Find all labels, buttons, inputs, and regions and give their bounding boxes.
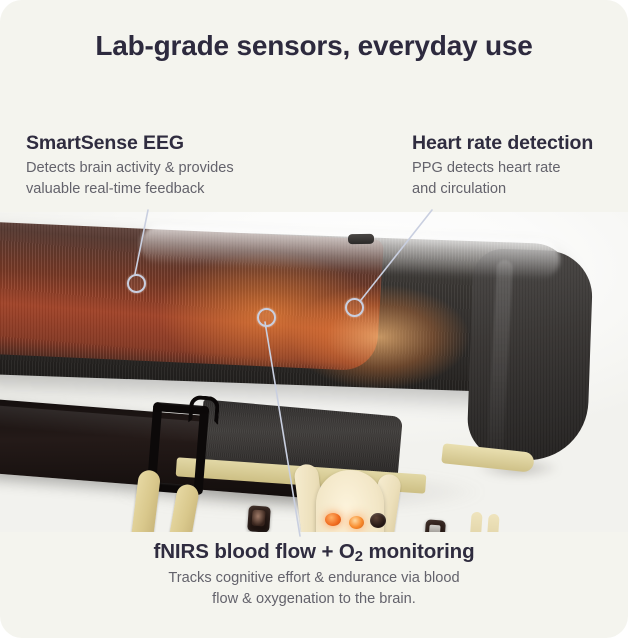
- ppg-photodiode: [370, 513, 386, 528]
- annotation-heading-subscript: 2: [355, 549, 363, 565]
- annotation-heading-suffix: monitoring: [363, 540, 475, 563]
- annotation-body-line-1: PPG detects heart rate: [412, 160, 560, 176]
- annotation-body: PPG detects heart rate and circulation: [412, 158, 593, 200]
- headband-right-end: [466, 248, 593, 462]
- annotation-body: Tracks cognitive effort & endurance via …: [0, 568, 628, 610]
- annotation-body-line-2: valuable real-time feedback: [26, 181, 204, 197]
- annotation-heading: fNIRS blood flow + O2 monitoring: [0, 540, 628, 565]
- annotation-smartsense-eeg: SmartSense EEG Detects brain activity & …: [26, 132, 234, 200]
- annotation-body-line-1: Detects brain activity & provides: [26, 160, 234, 176]
- callout-marker-heart-rate[interactable]: [345, 298, 364, 317]
- ppg-led-orange: [325, 513, 341, 526]
- annotation-body-line-2: and circulation: [412, 181, 506, 197]
- ppg-led-amber: [349, 516, 364, 529]
- annotation-heading-prefix: fNIRS blood flow + O: [153, 540, 354, 563]
- sensor-feature-card: Lab-grade sensors, everyday use: [0, 0, 628, 638]
- page-title: Lab-grade sensors, everyday use: [0, 30, 628, 62]
- headband-top-clip: [348, 234, 374, 244]
- headband-illustration: [0, 212, 628, 532]
- annotation-fnirs-monitoring: fNIRS blood flow + O2 monitoring Tracks …: [0, 540, 628, 610]
- annotation-body-line-1: Tracks cognitive effort & endurance via …: [168, 570, 459, 586]
- annotation-heart-rate-detection: Heart rate detection PPG detects heart r…: [412, 132, 593, 200]
- annotation-heading: Heart rate detection: [412, 132, 593, 155]
- annotation-body-line-2: flow & oxygenation to the brain.: [212, 591, 416, 607]
- eeg-electrode-pin: [485, 514, 499, 532]
- optical-sensor-module: [424, 519, 446, 532]
- eeg-electrode-pin: [468, 512, 482, 532]
- annotation-body: Detects brain activity & provides valuab…: [26, 158, 234, 200]
- product-photo: [0, 212, 628, 532]
- callout-marker-fnirs[interactable]: [257, 308, 276, 327]
- buckle-loop: [188, 395, 220, 425]
- callout-marker-eeg[interactable]: [127, 274, 146, 293]
- fnirs-sensor-module: [247, 505, 271, 532]
- annotation-heading: SmartSense EEG: [26, 132, 234, 155]
